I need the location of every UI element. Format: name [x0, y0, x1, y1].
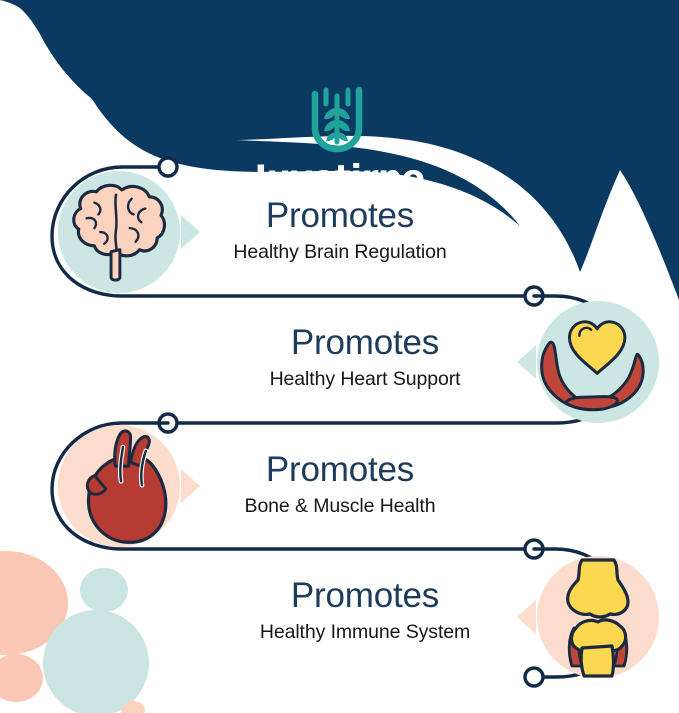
- row-subtitle: Healthy Brain Regulation: [170, 242, 510, 263]
- row-text-bone-muscle: Promotes Bone & Muscle Health: [170, 452, 510, 517]
- row-text-heart-support: Promotes Healthy Heart Support: [195, 325, 535, 390]
- row-subtitle: Healthy Heart Support: [195, 369, 535, 390]
- row-text-brain: Promotes Healthy Brain Regulation: [170, 198, 510, 263]
- row-title: Promotes: [195, 578, 535, 615]
- brand-lockup: Juvetirpo: [0, 84, 679, 198]
- content-layer: Juvetirpo Promotes Healthy Brain Regulat…: [0, 0, 679, 713]
- row-subtitle: Healthy Immune System: [195, 622, 535, 643]
- infographic-canvas: Juvetirpo Promotes Healthy Brain Regulat…: [0, 0, 679, 713]
- brand-name: Juvetirpo: [0, 158, 679, 198]
- row-title: Promotes: [170, 198, 510, 235]
- row-title: Promotes: [170, 452, 510, 489]
- wheat-u-logo-icon: [304, 84, 376, 158]
- row-title: Promotes: [195, 325, 535, 362]
- row-text-immune: Promotes Healthy Immune System: [195, 578, 535, 643]
- row-subtitle: Bone & Muscle Health: [170, 496, 510, 517]
